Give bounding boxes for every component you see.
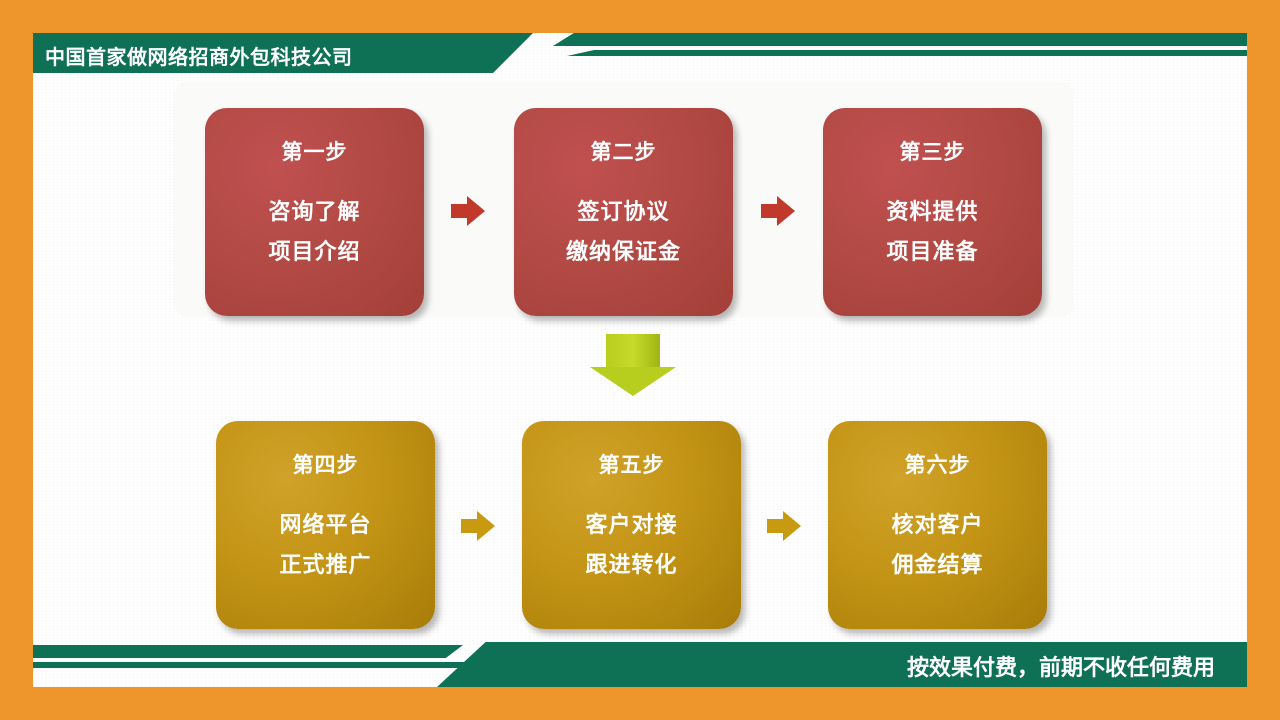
- step-1-line-1: 咨询了解: [268, 192, 360, 232]
- step-4-lines: 网络平台 正式推广: [279, 505, 371, 585]
- footer-stripe-upper: [33, 645, 463, 658]
- step-card-3[interactable]: 第三步 资料提供 项目准备: [823, 108, 1042, 316]
- arrow-down-shaft: [606, 334, 660, 368]
- step-card-4[interactable]: 第四步 网络平台 正式推广: [216, 421, 435, 629]
- arrow-right-icon-step5-step6: [767, 511, 801, 541]
- arrow-right-icon-step2-step3: [761, 196, 795, 226]
- step-1-title: 第一步: [282, 136, 348, 166]
- step-1-line-2: 项目介绍: [268, 232, 360, 272]
- step-2-line-1: 签订协议: [566, 192, 681, 232]
- step-2-title: 第二步: [591, 136, 657, 166]
- step-3-line-1: 资料提供: [886, 192, 978, 232]
- step-5-line-2: 跟进转化: [585, 545, 677, 585]
- arrow-head: [783, 511, 801, 541]
- step-3-line-2: 项目准备: [886, 232, 978, 272]
- step-5-title: 第五步: [599, 449, 665, 479]
- header-stripe-lower: [567, 50, 1247, 56]
- step-card-6[interactable]: 第六步 核对客户 佣金结算: [828, 421, 1047, 629]
- footer-text: 按效果付费，前期不收任何费用: [907, 650, 1215, 682]
- step-4-line-1: 网络平台: [279, 505, 371, 545]
- step-5-lines: 客户对接 跟进转化: [585, 505, 677, 585]
- step-card-2[interactable]: 第二步 签订协议 缴纳保证金: [514, 108, 733, 316]
- arrow-head: [777, 196, 795, 226]
- arrow-head: [477, 511, 495, 541]
- arrow-right-icon-step4-step5: [461, 511, 495, 541]
- header-banner: 中国首家做网络招商外包科技公司: [33, 33, 1247, 73]
- step-card-5[interactable]: 第五步 客户对接 跟进转化: [522, 421, 741, 629]
- footer-stripe-lower: [33, 662, 733, 668]
- step-card-1[interactable]: 第一步 咨询了解 项目介绍: [205, 108, 424, 316]
- step-4-line-2: 正式推广: [279, 545, 371, 585]
- step-1-lines: 咨询了解 项目介绍: [268, 192, 360, 272]
- step-5-line-1: 客户对接: [585, 505, 677, 545]
- arrow-right-icon-step1-step2: [451, 196, 485, 226]
- header-stripe-upper: [553, 33, 1247, 46]
- arrow-down-head: [590, 367, 676, 396]
- step-3-lines: 资料提供 项目准备: [886, 192, 978, 272]
- step-6-lines: 核对客户 佣金结算: [891, 505, 983, 585]
- step-6-title: 第六步: [905, 449, 971, 479]
- arrow-head: [467, 196, 485, 226]
- step-2-line-2: 缴纳保证金: [566, 232, 681, 272]
- footer-banner: 按效果付费，前期不收任何费用: [33, 642, 1247, 687]
- step-4-title: 第四步: [293, 449, 359, 479]
- step-6-line-2: 佣金结算: [891, 545, 983, 585]
- step-3-title: 第三步: [900, 136, 966, 166]
- step-6-line-1: 核对客户: [891, 505, 983, 545]
- step-2-lines: 签订协议 缴纳保证金: [566, 192, 681, 272]
- header-title: 中国首家做网络招商外包科技公司: [45, 41, 353, 70]
- arrow-down-icon: [590, 334, 676, 396]
- slide-root: 中国首家做网络招商外包科技公司 第一步 咨询了解 项目介绍 第二步 签订协议 缴…: [0, 0, 1280, 720]
